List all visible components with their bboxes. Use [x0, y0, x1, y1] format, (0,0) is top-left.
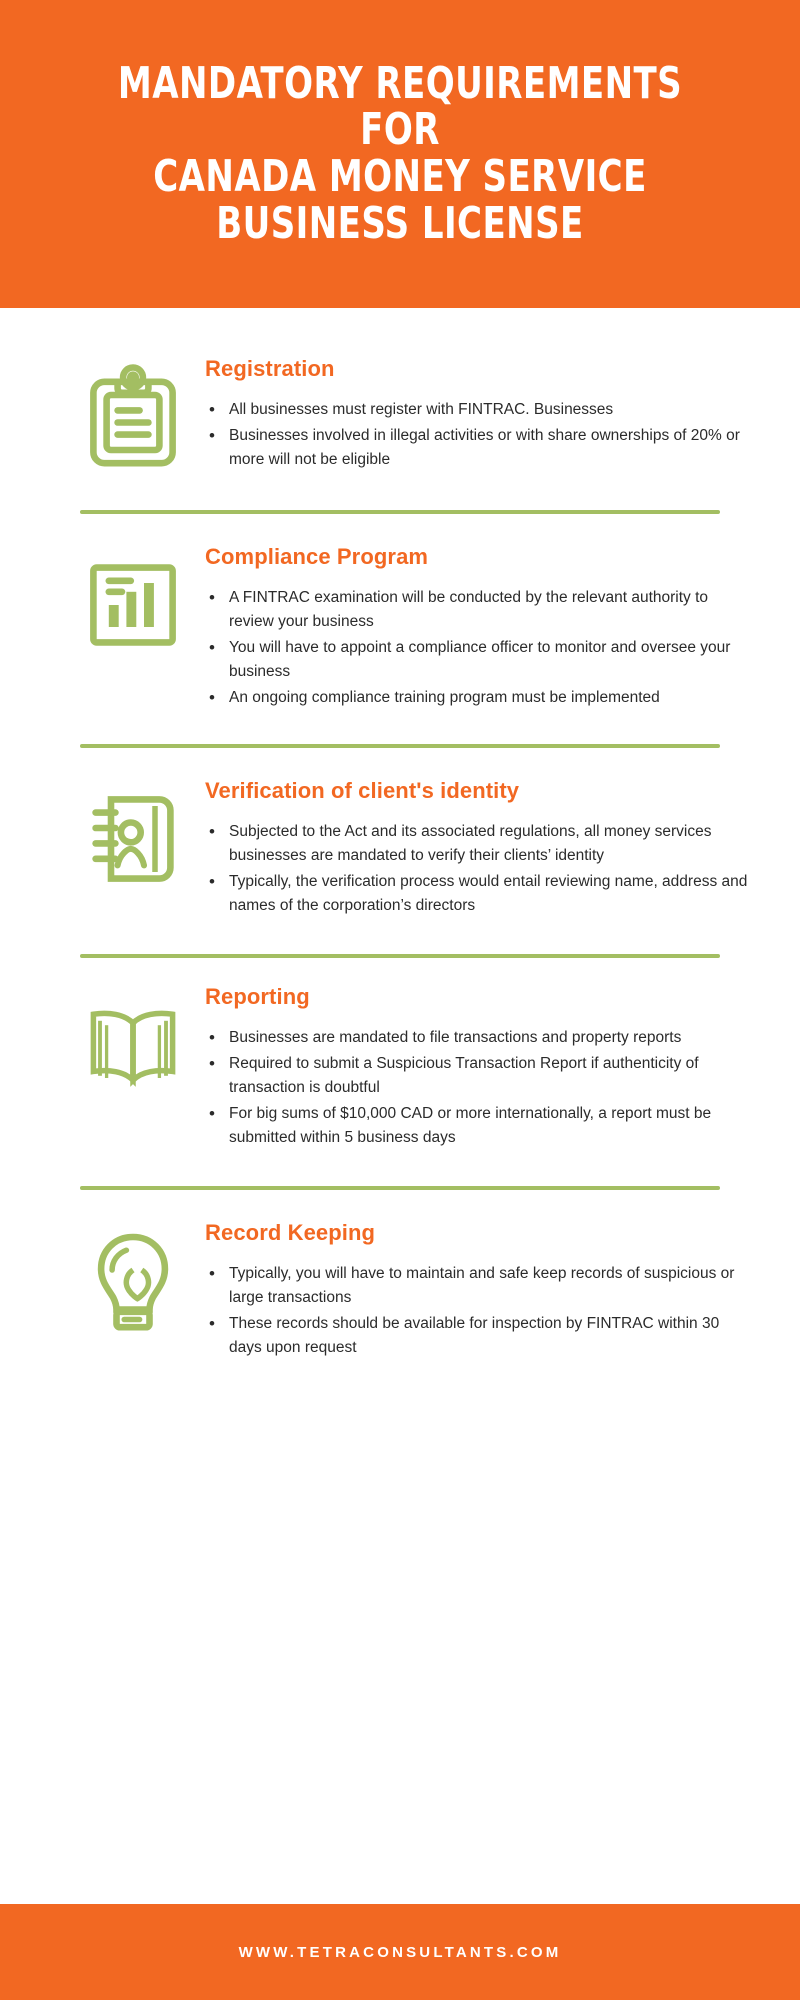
- section-bullet-list: All businesses must register with FINTRA…: [205, 398, 750, 472]
- section-icon-container: [60, 544, 205, 660]
- list-item: For big sums of $10,000 CAD or more inte…: [205, 1102, 750, 1150]
- section-text: Registration All businesses must registe…: [205, 356, 760, 474]
- section-reporting: Reporting Businesses are mandated to fil…: [0, 984, 800, 1152]
- section-text: Record Keeping Typically, you will have …: [205, 1220, 760, 1362]
- open-book-icon: [78, 990, 188, 1100]
- section-icon-container: [60, 984, 205, 1100]
- section-title: Record Keeping: [205, 1220, 750, 1246]
- section-title: Reporting: [205, 984, 750, 1010]
- list-item: All businesses must register with FINTRA…: [205, 398, 750, 422]
- list-item: You will have to appoint a compliance of…: [205, 636, 750, 684]
- spacer: [0, 958, 800, 984]
- bar-chart-icon: [78, 550, 188, 660]
- section-bullet-list: Businesses are mandated to file transact…: [205, 1026, 750, 1150]
- list-item: Businesses are mandated to file transact…: [205, 1026, 750, 1050]
- section-title: Compliance Program: [205, 544, 750, 570]
- spacer: [0, 1190, 800, 1220]
- section-bullet-list: Typically, you will have to maintain and…: [205, 1262, 750, 1360]
- list-item: Subjected to the Act and its associated …: [205, 820, 750, 868]
- list-item: An ongoing compliance training program m…: [205, 686, 750, 710]
- infographic-body: Registration All businesses must registe…: [0, 308, 800, 1362]
- section-bullet-list: Subjected to the Act and its associated …: [205, 820, 750, 918]
- section-icon-container: [60, 1220, 205, 1336]
- section-icon-container: [60, 356, 205, 472]
- spacer: [0, 712, 800, 744]
- clipboard-icon: [78, 362, 188, 472]
- spacer: [0, 920, 800, 954]
- section-verification-identity: Verification of client's identity Subjec…: [0, 778, 800, 920]
- section-compliance-program: Compliance Program A FINTRAC examination…: [0, 544, 800, 712]
- spacer: [0, 514, 800, 544]
- section-title: Registration: [205, 356, 750, 382]
- section-bullet-list: A FINTRAC examination will be conducted …: [205, 586, 750, 710]
- list-item: Typically, you will have to maintain and…: [205, 1262, 750, 1310]
- section-text: Verification of client's identity Subjec…: [205, 778, 760, 920]
- section-registration: Registration All businesses must registe…: [0, 356, 800, 474]
- spacer: [0, 748, 800, 778]
- section-icon-container: [60, 778, 205, 894]
- section-title: Verification of client's identity: [205, 778, 750, 804]
- notebook-contact-icon: [78, 784, 188, 894]
- spacer: [0, 308, 800, 356]
- list-item: Required to submit a Suspicious Transact…: [205, 1052, 750, 1100]
- spacer: [0, 474, 800, 510]
- page-title: MANDATORY REQUIREMENTS FOR CANADA MONEY …: [90, 61, 709, 248]
- list-item: Businesses involved in illegal activitie…: [205, 424, 750, 472]
- lightbulb-icon: [78, 1226, 188, 1336]
- list-item: A FINTRAC examination will be conducted …: [205, 586, 750, 634]
- infographic-footer: WWW.TETRACONSULTANTS.COM: [0, 1904, 800, 2000]
- section-text: Reporting Businesses are mandated to fil…: [205, 984, 760, 1152]
- list-item: Typically, the verification process woul…: [205, 870, 750, 918]
- infographic-header: MANDATORY REQUIREMENTS FOR CANADA MONEY …: [0, 0, 800, 308]
- website-url: WWW.TETRACONSULTANTS.COM: [239, 1944, 562, 1961]
- section-record-keeping: Record Keeping Typically, you will have …: [0, 1220, 800, 1362]
- spacer: [0, 1152, 800, 1186]
- section-text: Compliance Program A FINTRAC examination…: [205, 544, 760, 712]
- list-item: These records should be available for in…: [205, 1312, 750, 1360]
